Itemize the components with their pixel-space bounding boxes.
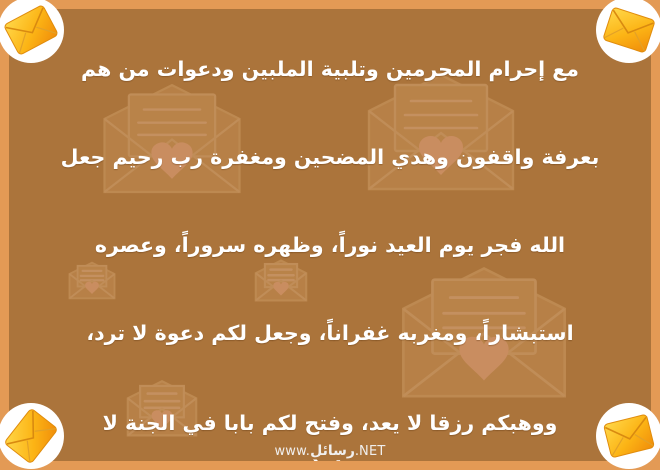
- card-inner-panel: مع إحرام المحرمين وتلبية الملبين ودعوات …: [9, 9, 651, 461]
- envelope-icon: [2, 3, 60, 56]
- message-body: مع إحرام المحرمين وتلبية الملبين ودعوات …: [9, 9, 651, 461]
- envelope-icon: [602, 413, 655, 459]
- watermark-arabic-name: رسائل: [310, 443, 355, 459]
- site-watermark: www.رسائل.NET: [9, 443, 651, 459]
- message-line-4: استبشاراً، ومغربه غفراناً، وجعل لكم دعوة…: [9, 321, 651, 345]
- message-line-3: الله فجر يوم العيد نوراً، وظهره سروراً، …: [9, 233, 651, 257]
- envelope-badge-bottom-left: [0, 403, 64, 469]
- watermark-suffix: .NET: [355, 444, 386, 459]
- envelope-icon: [602, 6, 657, 54]
- message-line-1: مع إحرام المحرمين وتلبية الملبين ودعوات …: [9, 57, 651, 81]
- watermark-prefix: www.: [274, 444, 310, 459]
- envelope-badge-top-right: [596, 0, 660, 63]
- message-line-5: ووهبكم رزقا لا يعد، وفتح لكم بابا في الج…: [9, 411, 651, 435]
- envelope-badge-bottom-right: [596, 403, 660, 469]
- message-line-2: بعرفة واقفون وهدي المضحين ومغفرة رب رحيم…: [9, 145, 651, 169]
- envelope-icon: [3, 407, 60, 465]
- greeting-card: مع إحرام المحرمين وتلبية الملبين ودعوات …: [0, 0, 660, 470]
